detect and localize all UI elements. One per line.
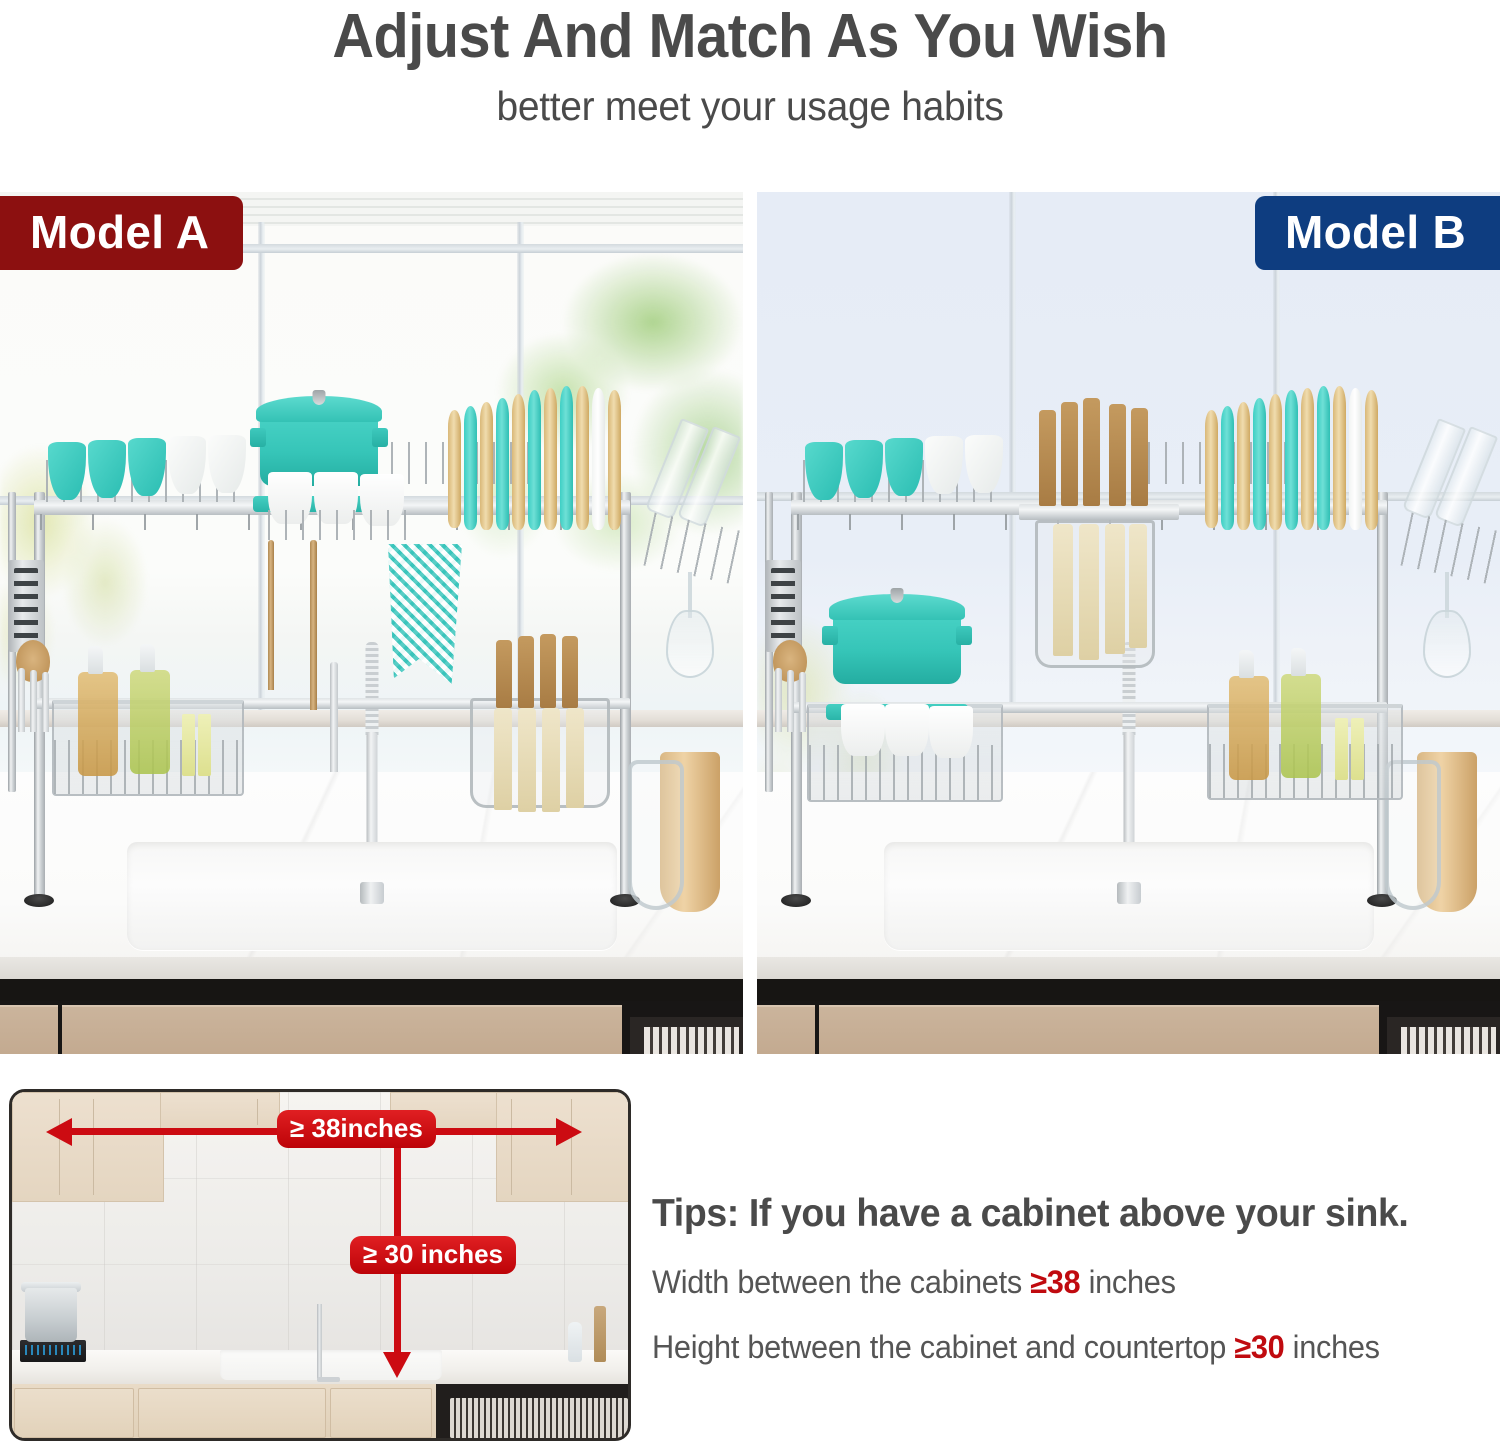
panel-model-a[interactable]: Model A bbox=[0, 192, 743, 1054]
faucet-hose bbox=[365, 642, 378, 740]
foliage-right bbox=[443, 192, 743, 622]
window-mullion-horizontal bbox=[757, 492, 1500, 501]
lower-cabinet-door bbox=[14, 1388, 134, 1438]
model-a-label: Model A bbox=[30, 206, 209, 258]
cabinet-vent bbox=[630, 1017, 743, 1054]
lower-cabinets bbox=[0, 1001, 743, 1054]
stockpot bbox=[25, 1288, 77, 1342]
tips-height-pre: Height between the cabinet and counterto… bbox=[652, 1329, 1234, 1365]
tips-width-line: Width between the cabinets ≥38 inches bbox=[652, 1264, 1466, 1301]
faucet-hose bbox=[1122, 642, 1135, 740]
faucet-base bbox=[1117, 882, 1141, 904]
width-arrow-right-icon bbox=[556, 1118, 582, 1146]
dishwasher bbox=[436, 1384, 631, 1441]
lower-cabinet-door bbox=[138, 1388, 326, 1438]
model-b-badge: Model B bbox=[1255, 196, 1500, 270]
faucet-base bbox=[360, 882, 384, 904]
pepper-mill bbox=[594, 1306, 606, 1362]
tips-height-line: Height between the cabinet and counterto… bbox=[652, 1329, 1466, 1366]
tips-heading: Tips: If you have a cabinet above your s… bbox=[652, 1192, 1466, 1236]
width-measure-label: ≥ 38inches bbox=[277, 1110, 436, 1148]
tips-height-post: inches bbox=[1284, 1329, 1379, 1365]
foliage-left bbox=[0, 402, 180, 732]
kitchen-measurement-diagram: ≥ 38inches ≥ 30 inches bbox=[9, 1089, 631, 1441]
counter-edge bbox=[757, 957, 1500, 979]
page-subtitle: better meet your usage habits bbox=[38, 83, 1463, 130]
header: Adjust And Match As You Wish better meet… bbox=[0, 0, 1500, 130]
cabinet-seam bbox=[257, 1099, 258, 1125]
window-mullion-horizontal bbox=[0, 496, 743, 505]
window-mullion-vertical bbox=[517, 222, 524, 722]
dishwasher-vent bbox=[450, 1398, 628, 1438]
cabinet-seam bbox=[571, 1099, 572, 1195]
height-measure-label: ≥ 30 inches bbox=[350, 1236, 516, 1274]
height-arrow-down-icon bbox=[383, 1352, 411, 1378]
cabinet-door bbox=[819, 1005, 1379, 1054]
width-arrow-left-icon bbox=[46, 1118, 72, 1146]
kitchen-cooktop bbox=[20, 1340, 86, 1362]
kitchen-window-scene-b bbox=[757, 192, 1500, 1054]
counter-shadow bbox=[0, 979, 743, 1001]
tips-block: Tips: If you have a cabinet above your s… bbox=[652, 1083, 1500, 1366]
tips-width-pre: Width between the cabinets bbox=[652, 1264, 1030, 1300]
upper-cabinet-left bbox=[12, 1092, 164, 1202]
tips-width-post: inches bbox=[1080, 1264, 1175, 1300]
kitchen-faucet-spout bbox=[317, 1377, 340, 1382]
cabinet-seam bbox=[93, 1099, 94, 1195]
tips-width-value: ≥38 bbox=[1030, 1264, 1080, 1300]
model-a-badge: Model A bbox=[0, 196, 243, 270]
oil-bottle bbox=[568, 1322, 582, 1362]
panel-model-b[interactable]: Model B bbox=[757, 192, 1500, 1054]
cabinet-door bbox=[62, 1005, 622, 1054]
model-b-label: Model B bbox=[1285, 206, 1466, 258]
kitchen-faucet bbox=[317, 1304, 322, 1380]
cabinet-vent bbox=[1387, 1017, 1500, 1054]
upper-cabinet-left-deep bbox=[160, 1092, 280, 1132]
counter-edge bbox=[0, 957, 743, 979]
model-comparison-panels: Model A bbox=[0, 192, 1500, 1054]
window-mullion-vertical bbox=[1009, 192, 1016, 702]
upper-cabinet-right bbox=[496, 1092, 631, 1202]
lower-cabinets bbox=[757, 1001, 1500, 1054]
cabinet-door bbox=[757, 1005, 815, 1054]
kitchen-window-scene-a bbox=[0, 192, 743, 1054]
counter-shadow bbox=[757, 979, 1500, 1001]
window-mullion-vertical bbox=[258, 222, 265, 722]
cabinet-door bbox=[0, 1005, 58, 1054]
lower-cabinet-door bbox=[330, 1388, 432, 1438]
cabinet-seam bbox=[511, 1099, 512, 1195]
cabinet-seam bbox=[59, 1099, 60, 1195]
page-title: Adjust And Match As You Wish bbox=[53, 4, 1448, 69]
tips-height-value: ≥30 bbox=[1234, 1329, 1284, 1365]
bottom-section: ≥ 38inches ≥ 30 inches Tips: If you have… bbox=[0, 1083, 1500, 1447]
